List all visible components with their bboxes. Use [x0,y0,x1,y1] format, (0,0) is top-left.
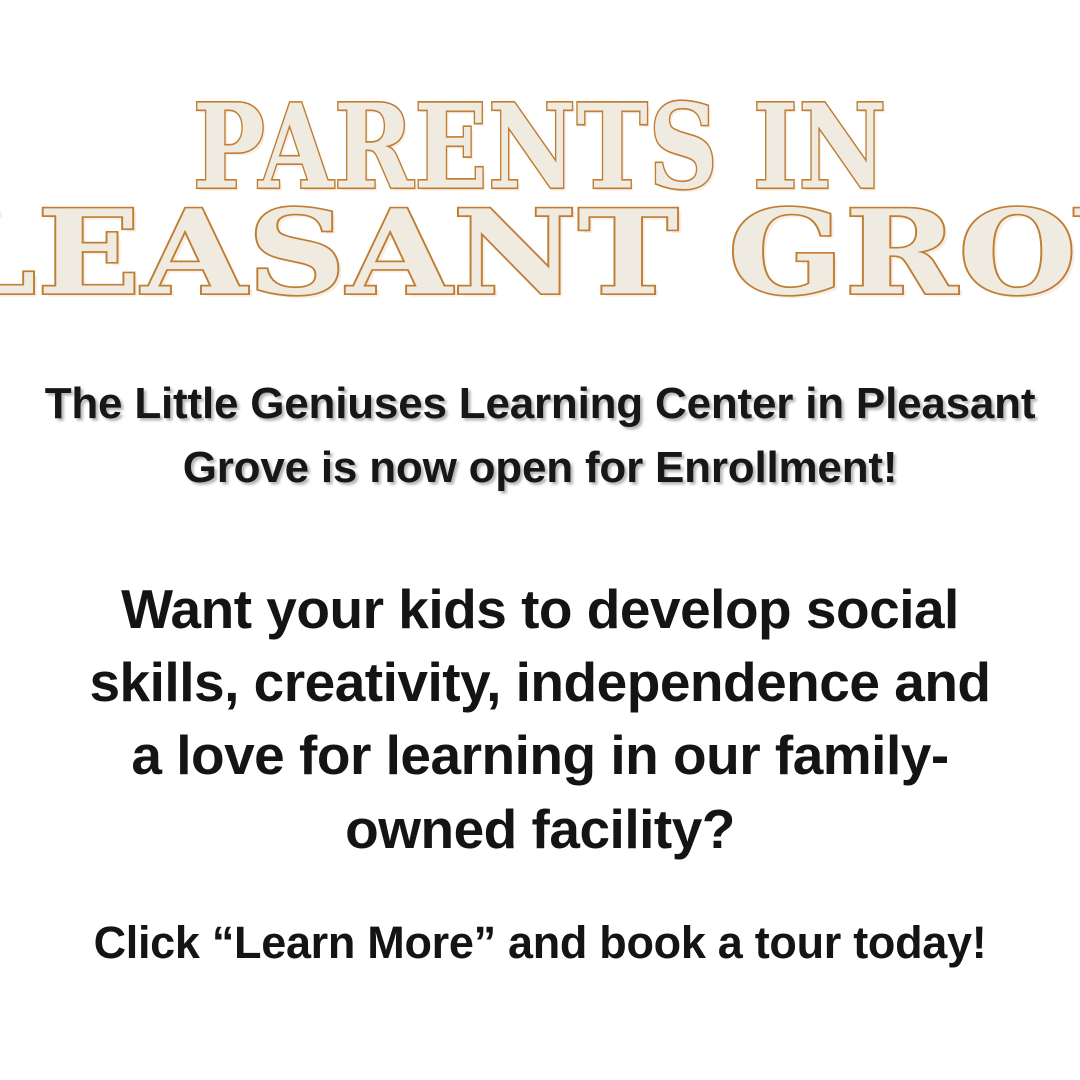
ad-poster: PARENTS IN PLEASANT GROVE! The Little Ge… [0,0,1080,1080]
subhead-text: The Little Geniuses Learning Center in P… [35,372,1045,501]
call-to-action-text: Click “Learn More” and book a tour today… [40,914,1040,973]
headline-line-2: PLEASANT GROVE! [0,196,1080,310]
headline-block: PARENTS IN PLEASANT GROVE! [0,96,1080,304]
body-paragraph: Want your kids to develop social skills,… [70,573,1010,866]
